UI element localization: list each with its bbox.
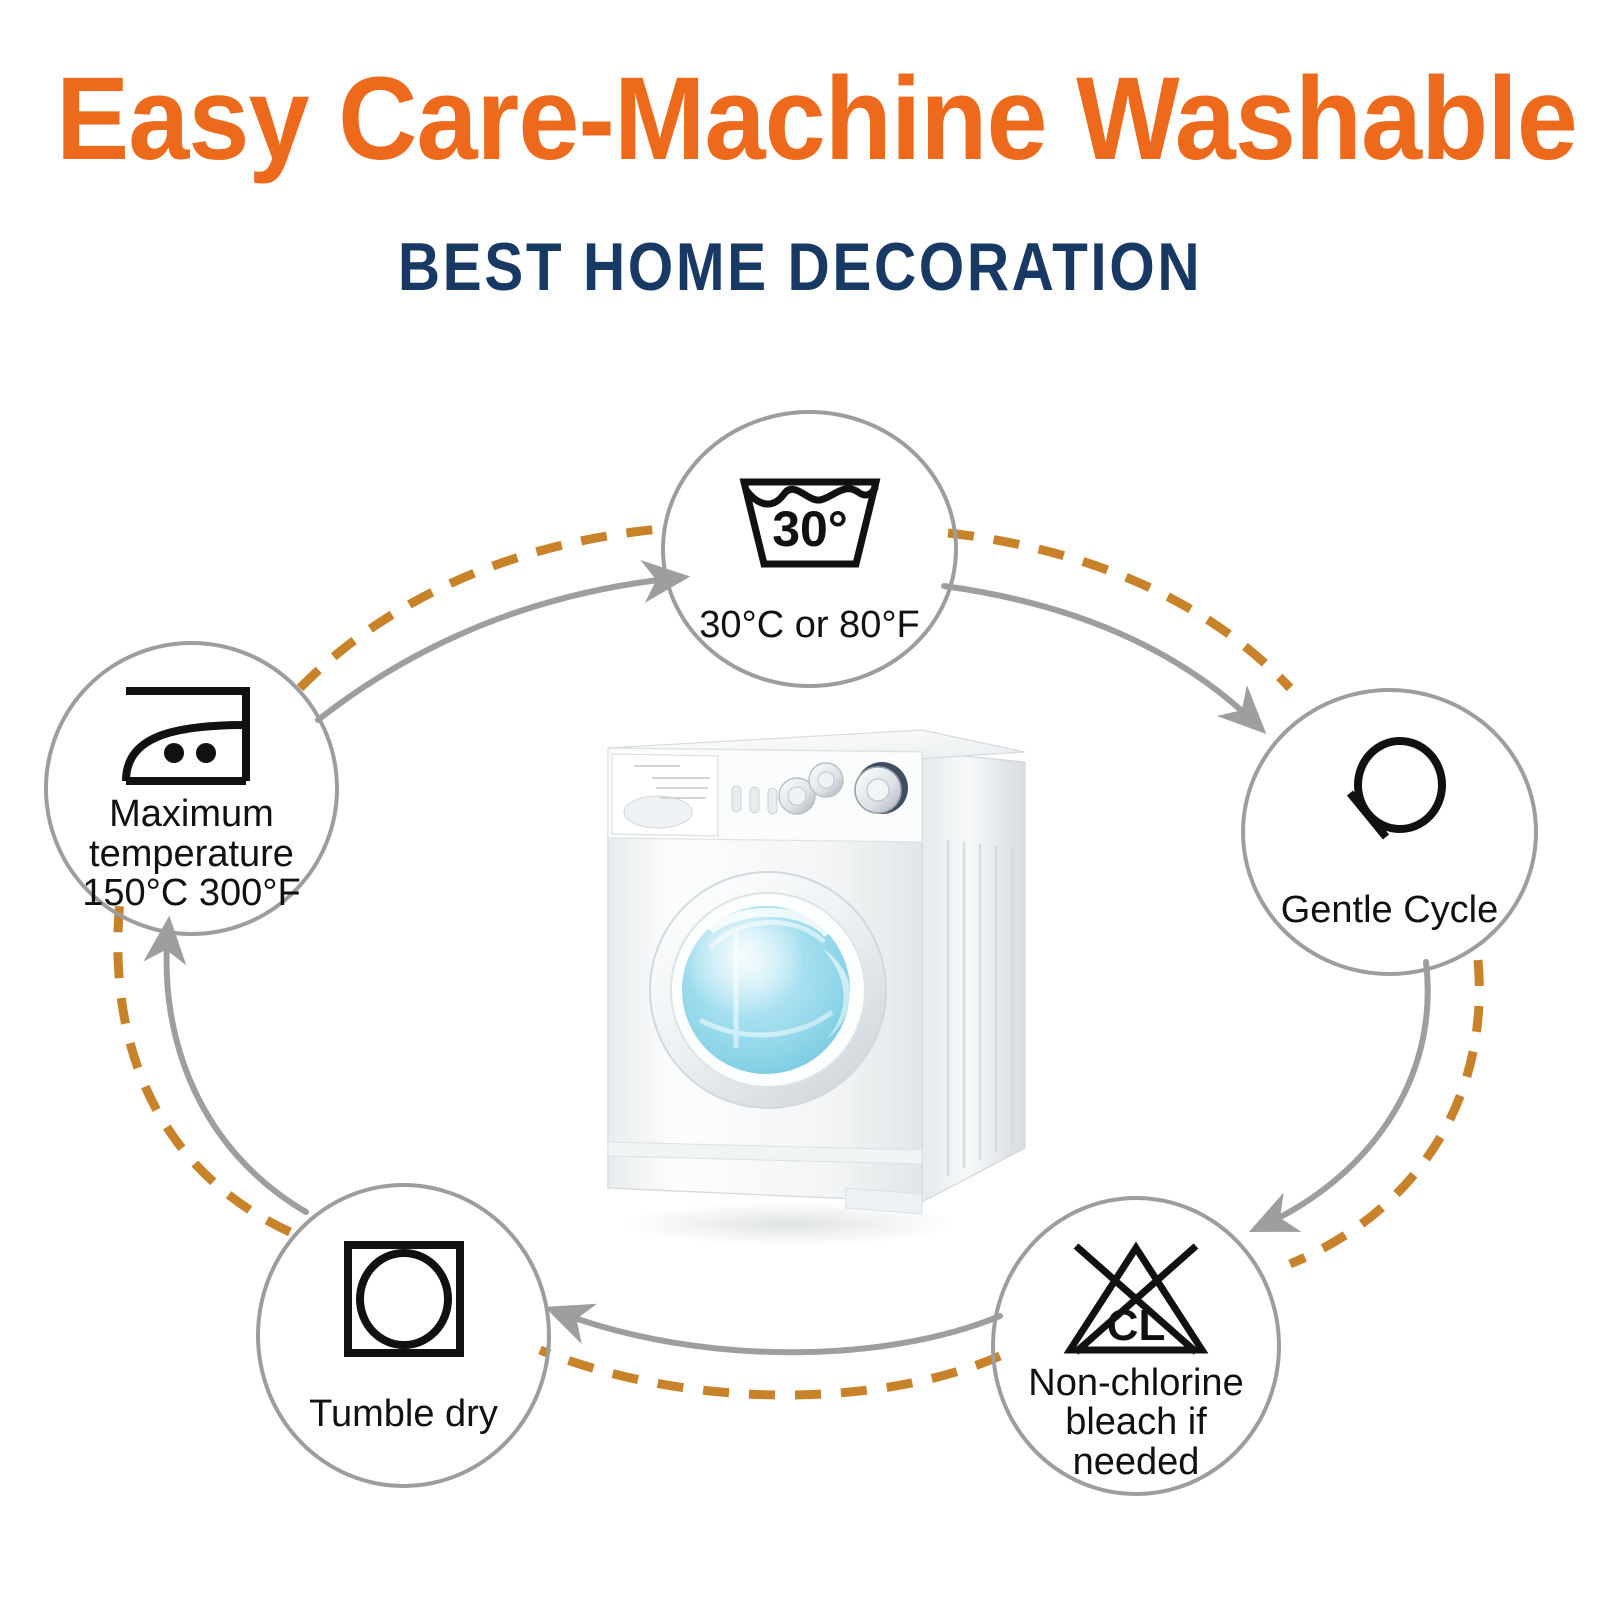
gentle-cycle-icon xyxy=(1324,733,1456,857)
no-chlorine-bleach-icon: CL xyxy=(1056,1240,1216,1362)
arrow-tumble-to-iron xyxy=(167,930,306,1212)
wash-tub-30-icon: 30° xyxy=(734,468,886,580)
tumble-dry-icon xyxy=(340,1237,468,1361)
care-node-wash-temperature[interactable]: 30° 30°C or 80°F xyxy=(661,410,958,688)
detergent-drawer-handle xyxy=(624,796,692,828)
care-node-iron-max-temperature[interactable]: Maximum temperature 150°C 300°F xyxy=(44,641,339,936)
care-node-wash-temperature-label: 30°C or 80°F xyxy=(699,606,920,646)
washer-side-panel xyxy=(922,752,1025,1202)
care-node-tumble-dry[interactable]: Tumble dry xyxy=(256,1183,551,1488)
arrow-bleach-to-tumble xyxy=(558,1312,1000,1352)
care-node-gentle-cycle[interactable]: Gentle Cycle xyxy=(1241,688,1538,976)
dashed-arc-gentle-to-bleach xyxy=(1290,960,1479,1264)
iron-two-dots-icon xyxy=(112,681,272,791)
care-node-non-chlorine-bleach[interactable]: CL Non-chlorine bleach if needed xyxy=(991,1196,1281,1496)
washing-machine-illustration xyxy=(560,690,1040,1250)
dashed-arc-bleach-to-tumble xyxy=(540,1350,1000,1395)
svg-text:30°: 30° xyxy=(772,501,848,557)
care-node-tumble-dry-label: Tumble dry xyxy=(309,1395,498,1435)
program-indicator-slots xyxy=(732,786,777,814)
care-instruction-cycle-diagram: 30° 30°C or 80°F Gentle Cycle CL xyxy=(0,0,1600,1600)
dashed-arc-iron-to-wash xyxy=(300,528,672,688)
care-node-gentle-cycle-label: Gentle Cycle xyxy=(1281,891,1499,931)
dashed-arc-wash-to-gentle xyxy=(948,533,1290,688)
care-node-iron-max-temperature-label: Maximum temperature 150°C 300°F xyxy=(82,795,300,914)
care-node-non-chlorine-bleach-label: Non-chlorine bleach if needed xyxy=(1028,1364,1243,1483)
svg-text:CL: CL xyxy=(1107,1301,1166,1350)
